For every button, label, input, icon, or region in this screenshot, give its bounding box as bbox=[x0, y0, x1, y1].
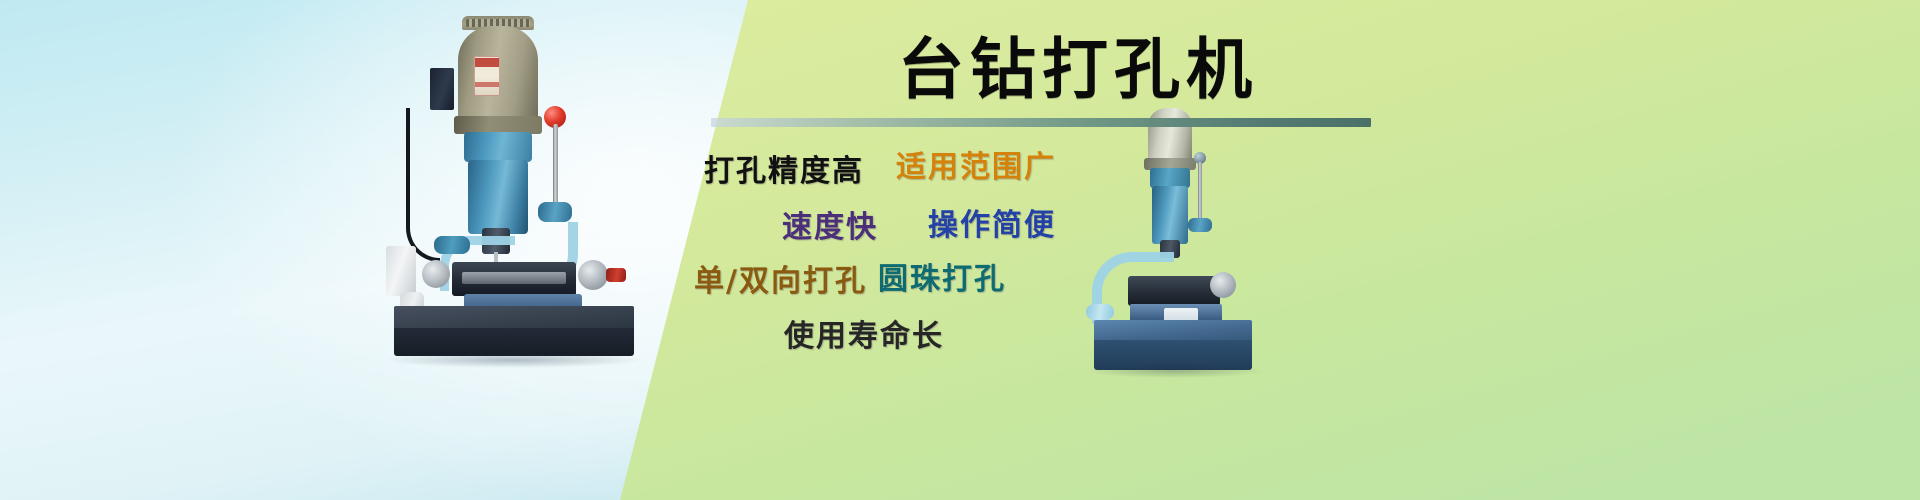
nameplate-stripe-2 bbox=[475, 82, 499, 87]
spindle-neck bbox=[464, 132, 532, 162]
control-box bbox=[386, 246, 416, 296]
hose-elbow bbox=[434, 236, 470, 254]
feature-list: 打孔精度高 适用范围广 速度快 操作简便 单/双向打孔 圆珠打孔 使用寿命长 bbox=[660, 136, 1340, 386]
handwheel-left bbox=[422, 260, 450, 288]
title-divider bbox=[711, 118, 1371, 127]
lever-hub bbox=[538, 202, 572, 222]
feature-simple: 操作简便 bbox=[928, 200, 1056, 244]
left-product-image bbox=[378, 10, 646, 366]
vice-slide bbox=[462, 272, 566, 284]
nameplate-stripe bbox=[475, 58, 499, 67]
feature-accuracy: 打孔精度高 bbox=[704, 146, 864, 190]
feature-life: 使用寿命长 bbox=[784, 311, 944, 355]
page-title: 台钻打孔机 bbox=[745, 36, 1385, 102]
junction-box bbox=[430, 68, 454, 110]
feature-range: 适用范围广 bbox=[896, 142, 1056, 186]
product-shadow bbox=[382, 352, 644, 368]
promo-banner: 台钻打孔机 打孔精度高 适用范围广 速度快 操作简便 单/双向打孔 圆珠打孔 使… bbox=[0, 0, 1920, 500]
wheel-handle bbox=[606, 268, 626, 282]
title-block: 台钻打孔机 bbox=[745, 36, 1385, 127]
feature-bead: 圆珠打孔 bbox=[878, 254, 1006, 298]
feed-lever bbox=[553, 124, 558, 210]
feature-speed: 速度快 bbox=[782, 202, 878, 246]
feature-dual: 单/双向打孔 bbox=[694, 256, 867, 300]
handwheel-right bbox=[578, 260, 608, 290]
